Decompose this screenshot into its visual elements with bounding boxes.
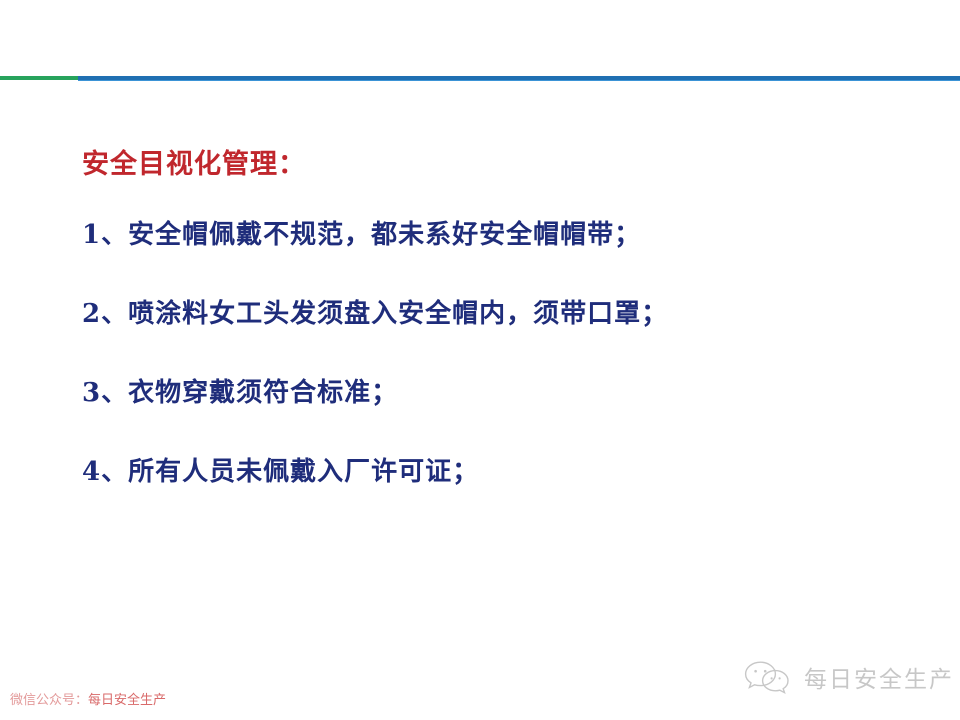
top-divider-rule xyxy=(0,76,960,80)
bullet-list: 1、安全帽佩戴不规范，都未系好安全帽帽带； 2、喷涂料女工头发须盘入安全帽内，须… xyxy=(82,220,882,489)
divider-green-segment xyxy=(0,76,78,80)
brand-mark-bottom-right: 每日安全生产 xyxy=(742,658,954,696)
divider-blue-segment xyxy=(78,76,960,80)
watermark-account-name: 每日安全生产 xyxy=(88,693,166,708)
bullet-item-1: 1、安全帽佩戴不规范，都未系好安全帽帽带； xyxy=(82,220,882,251)
bullet-item-4: 4、所有人员未佩戴入厂许可证； xyxy=(82,457,882,488)
watermark-bottom-left: 微信公众号：每日安全生产 xyxy=(10,693,166,710)
slide-content: 安全目视化管理： 1、安全帽佩戴不规范，都未系好安全帽帽带； 2、喷涂料女工头发… xyxy=(82,148,882,489)
slide-title: 安全目视化管理： xyxy=(82,148,882,182)
bullet-item-2: 2、喷涂料女工头发须盘入安全帽内，须带口罩； xyxy=(82,299,882,330)
brand-text: 每日安全生产 xyxy=(804,660,954,694)
bullet-item-3: 3、衣物穿戴须符合标准； xyxy=(82,378,882,409)
wechat-icon xyxy=(742,658,794,696)
watermark-label: 微信公众号： xyxy=(10,693,88,708)
slide-canvas: 安全目视化管理： 1、安全帽佩戴不规范，都未系好安全帽帽带； 2、喷涂料女工头发… xyxy=(0,0,960,720)
